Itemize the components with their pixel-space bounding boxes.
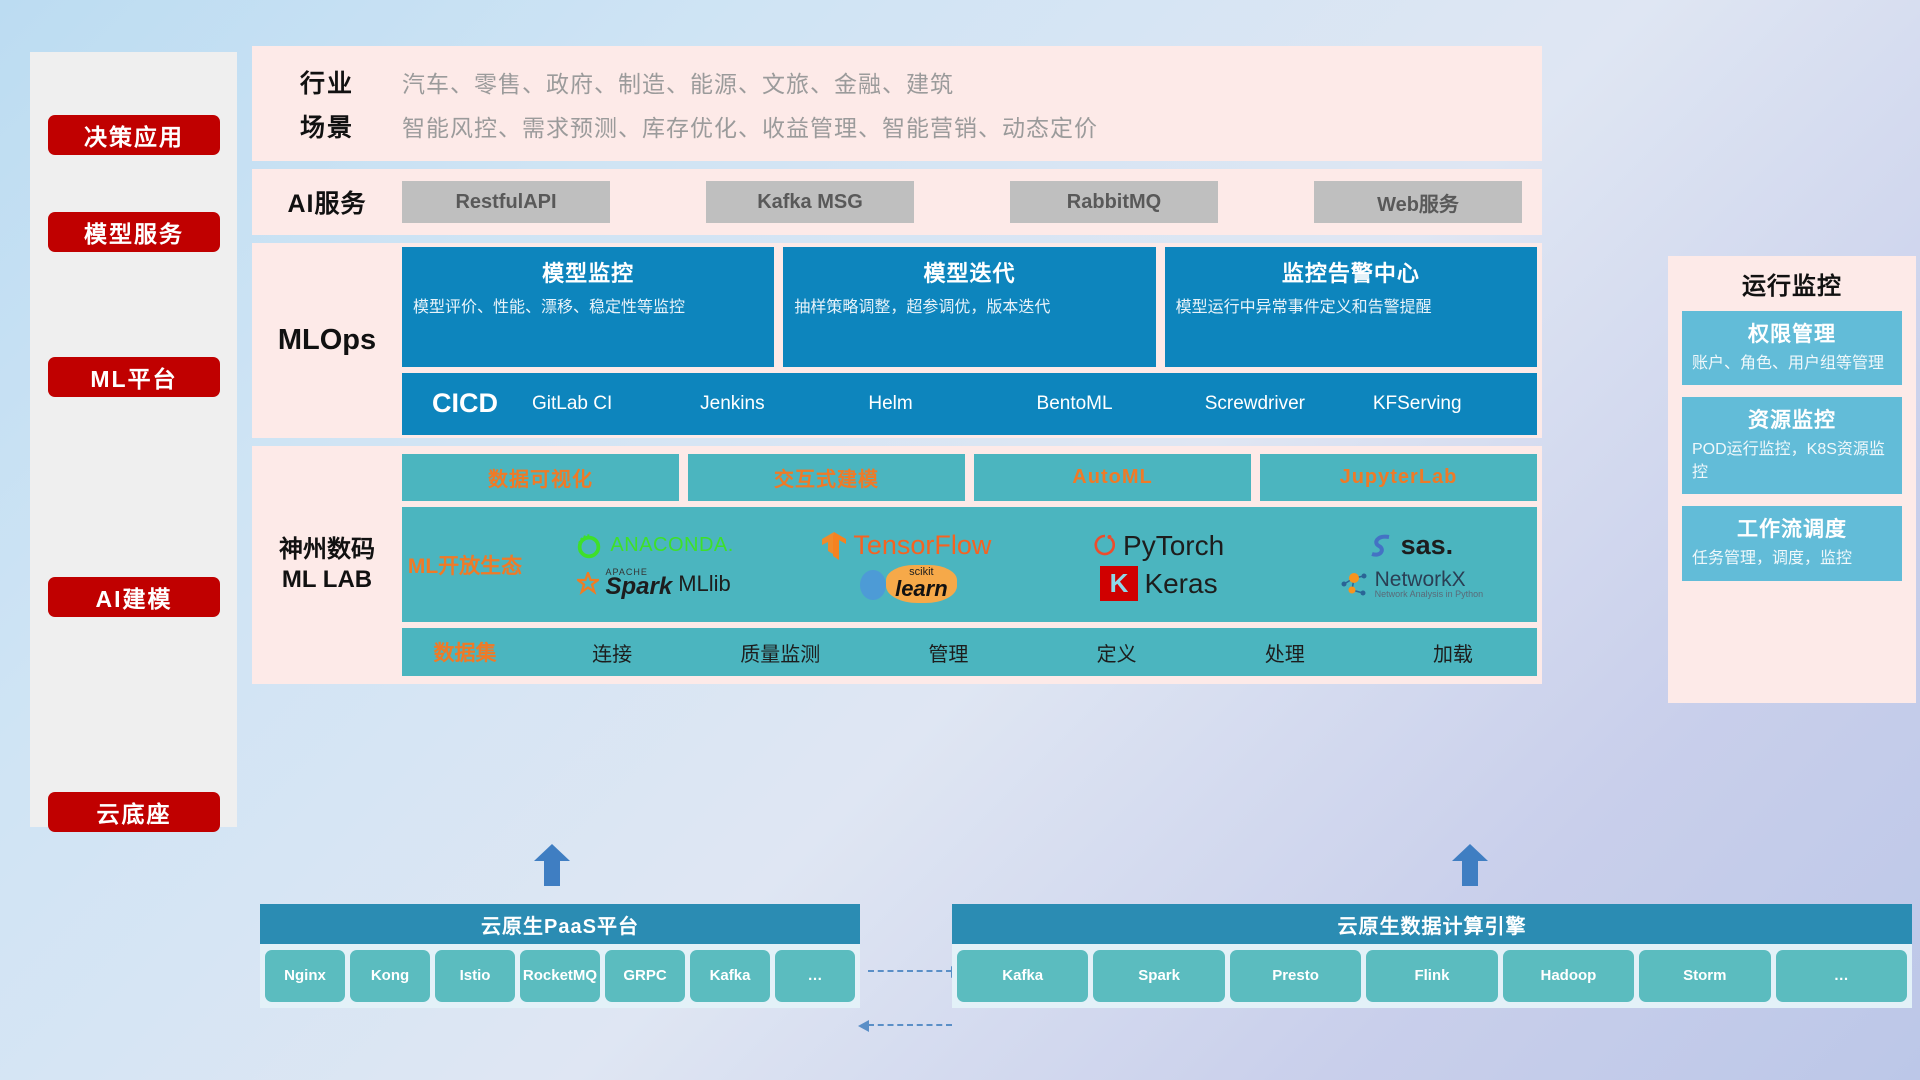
layer-chip-ai-modeling[interactable]: AI建模 <box>48 577 220 617</box>
learn-word: learn <box>895 578 948 600</box>
cloud-native-paas-group: 云原生PaaS平台 Nginx Kong Istio RocketMQ GRPC… <box>260 904 860 1008</box>
pytorch-wordmark: PyTorch <box>1123 530 1224 562</box>
layer-chip-decision-apps[interactable]: 决策应用 <box>48 115 220 155</box>
cicd-item-jenkins[interactable]: Jenkins <box>696 393 864 415</box>
tab-data-visualization[interactable]: 数据可视化 <box>402 454 679 501</box>
networkx-wordmark: NetworkX <box>1375 569 1484 590</box>
ai-service-band: AI服务 RestfulAPI Kafka MSG RabbitMQ Web服务 <box>252 169 1542 235</box>
networkx-logo: NetworkX Network Analysis in Python <box>1339 569 1484 599</box>
service-box-web-service[interactable]: Web服务 <box>1314 181 1522 223</box>
service-box-restfulapi[interactable]: RestfulAPI <box>402 181 610 223</box>
ml-ecosystem-label: ML开放生态 <box>402 550 528 580</box>
data-chip-hadoop[interactable]: Hadoop <box>1503 950 1634 1002</box>
layer-label-column: 决策应用 模型服务 ML平台 AI建模 云底座 <box>30 52 237 827</box>
up-arrow-paas-icon <box>534 844 570 886</box>
cicd-item-helm[interactable]: Helm <box>864 393 1032 415</box>
mlops-card-list: 模型监控 模型评价、性能、漂移、稳定性等监控 模型迭代 抽样策略调整，超参调优，… <box>402 247 1537 367</box>
tensorflow-wordmark: TensorFlow <box>853 530 991 561</box>
mlops-card-desc: 模型运行中异常事件定义和告警提醒 <box>1176 296 1526 319</box>
monitor-card-title: 权限管理 <box>1692 318 1892 348</box>
data-chip-kafka[interactable]: Kafka <box>957 950 1088 1002</box>
data-chip-presto[interactable]: Presto <box>1230 950 1361 1002</box>
runtime-monitor-title: 运行监控 <box>1682 266 1902 301</box>
tensorflow-icon <box>821 531 847 561</box>
anaconda-icon <box>574 531 604 561</box>
data-engine-header: 云原生数据计算引擎 <box>952 904 1912 944</box>
cloud-native-data-engine-group: 云原生数据计算引擎 Kafka Spark Presto Flink Hadoo… <box>952 904 1912 1008</box>
anaconda-wordmark: ANACONDA. <box>610 534 733 557</box>
layer-chip-model-service[interactable]: 模型服务 <box>48 212 220 252</box>
ml-lab-content: 数据可视化 交互式建模 AutoML JupyterLab ML开放生态 ANA… <box>402 454 1542 676</box>
mlops-band: MLOps 模型监控 模型评价、性能、漂移、稳定性等监控 模型迭代 抽样策略调整… <box>252 243 1542 438</box>
data-chip-more[interactable]: … <box>1776 950 1907 1002</box>
mlops-card-desc: 模型评价、性能、漂移、稳定性等监控 <box>413 296 763 319</box>
industry-label: 行业 <box>252 64 402 100</box>
tab-interactive-modeling[interactable]: 交互式建模 <box>688 454 965 501</box>
networkx-tagline: Network Analysis in Python <box>1375 590 1484 599</box>
spark-wordmark: Spark <box>605 577 672 597</box>
paas-chip-kong[interactable]: Kong <box>350 950 430 1002</box>
architecture-stack: 行业 汽车、零售、政府、制造、能源、文旅、金融、建筑 场景 智能风控、需求预测、… <box>252 46 1542 692</box>
data-engine-chip-list: Kafka Spark Presto Flink Hadoop Storm … <box>952 944 1912 1008</box>
cicd-bar: CICD GitLab CI Jenkins Helm BentoML Scre… <box>402 373 1537 435</box>
scikit-blue-blob-icon <box>856 567 890 601</box>
monitor-card-permission[interactable]: 权限管理 账户、角色、用户组等管理 <box>1682 311 1902 385</box>
ml-lab-tab-list: 数据可视化 交互式建模 AutoML JupyterLab <box>402 454 1537 501</box>
cicd-item-gitlab-ci[interactable]: GitLab CI <box>528 393 696 415</box>
paas-chip-grpc[interactable]: GRPC <box>605 950 685 1002</box>
ai-service-label: AI服务 <box>252 184 402 220</box>
paas-chip-rocketmq[interactable]: RocketMQ <box>520 950 600 1002</box>
dataset-bar: 数据集 连接 质量监测 管理 定义 处理 加载 <box>402 628 1537 676</box>
pytorch-logo: PyTorch <box>1093 530 1224 562</box>
ml-ecosystem-logo-grid: ANACONDA. TensorFlow <box>528 527 1537 603</box>
cicd-item-screwdriver[interactable]: Screwdriver <box>1201 393 1369 415</box>
dashed-connector-right-icon <box>868 970 952 972</box>
cicd-title: CICD <box>402 388 528 419</box>
paas-header: 云原生PaaS平台 <box>260 904 860 944</box>
scenario-value: 智能风控、需求预测、库存优化、收益管理、智能营销、动态定价 <box>402 109 1098 143</box>
data-chip-spark[interactable]: Spark <box>1093 950 1224 1002</box>
mlops-card-model-iteration[interactable]: 模型迭代 抽样策略调整，超参调优，版本迭代 <box>783 247 1155 367</box>
service-box-rabbitmq[interactable]: RabbitMQ <box>1010 181 1218 223</box>
industry-value: 汽车、零售、政府、制造、能源、文旅、金融、建筑 <box>402 65 954 99</box>
data-chip-storm[interactable]: Storm <box>1639 950 1770 1002</box>
monitor-card-desc: 账户、角色、用户组等管理 <box>1692 353 1892 375</box>
dataset-item-quality-monitor[interactable]: 质量监测 <box>696 638 864 667</box>
dataset-item-define[interactable]: 定义 <box>1033 638 1201 667</box>
keras-k-mark: K <box>1100 566 1139 601</box>
dashed-connector-left-icon <box>868 1024 952 1026</box>
paas-chip-list: Nginx Kong Istio RocketMQ GRPC Kafka … <box>260 944 860 1008</box>
mlops-card-title: 监控告警中心 <box>1176 256 1526 288</box>
ml-lab-band: 神州数码 ML LAB 数据可视化 交互式建模 AutoML JupyterLa… <box>252 446 1542 684</box>
tab-jupyterlab[interactable]: JupyterLab <box>1260 454 1537 501</box>
anaconda-logo: ANACONDA. <box>574 531 733 561</box>
industry-row: 行业 汽车、零售、政府、制造、能源、文旅、金融、建筑 <box>252 60 1542 104</box>
networkx-graph-icon <box>1339 570 1369 598</box>
runtime-monitor-column: 运行监控 权限管理 账户、角色、用户组等管理 资源监控 POD运行监控，K8S资… <box>1668 256 1916 703</box>
dataset-item-load[interactable]: 加载 <box>1369 638 1537 667</box>
mlops-card-alert-center[interactable]: 监控告警中心 模型运行中异常事件定义和告警提醒 <box>1165 247 1537 367</box>
ml-lab-label-line1: 神州数码 <box>252 535 402 565</box>
sas-logo: sas. <box>1369 530 1454 561</box>
paas-chip-more[interactable]: … <box>775 950 855 1002</box>
monitor-card-resource[interactable]: 资源监控 POD运行监控，K8S资源监控 <box>1682 397 1902 494</box>
layer-chip-cloud-base[interactable]: 云底座 <box>48 792 220 832</box>
ml-ecosystem-bar: ML开放生态 ANACONDA. <box>402 507 1537 622</box>
cicd-item-list: GitLab CI Jenkins Helm BentoML Screwdriv… <box>528 393 1537 415</box>
mlops-card-desc: 抽样策略调整，超参调优，版本迭代 <box>794 296 1144 319</box>
tab-automl[interactable]: AutoML <box>974 454 1251 501</box>
pytorch-icon <box>1093 532 1117 560</box>
mlops-label: MLOps <box>252 324 402 357</box>
scikit-learn-logo: scikit learn <box>856 565 957 603</box>
mlops-content: 模型监控 模型评价、性能、漂移、稳定性等监控 模型迭代 抽样策略调整，超参调优，… <box>402 247 1542 435</box>
sas-icon <box>1369 532 1395 560</box>
service-box-kafka-msg[interactable]: Kafka MSG <box>706 181 914 223</box>
decision-apps-band: 行业 汽车、零售、政府、制造、能源、文旅、金融、建筑 场景 智能风控、需求预测、… <box>252 46 1542 161</box>
mllib-wordmark: MLlib <box>678 571 731 597</box>
spark-star-icon <box>577 572 599 596</box>
paas-chip-kafka[interactable]: Kafka <box>690 950 770 1002</box>
tensorflow-logo: TensorFlow <box>821 530 991 561</box>
monitor-card-desc: POD运行监控，K8S资源监控 <box>1692 439 1892 484</box>
layer-chip-ml-platform[interactable]: ML平台 <box>48 357 220 397</box>
ml-lab-label-line2: ML LAB <box>252 565 402 595</box>
mlops-card-title: 模型迭代 <box>794 256 1144 288</box>
dataset-item-process[interactable]: 处理 <box>1201 638 1369 667</box>
monitor-card-desc: 任务管理，调度，监控 <box>1692 548 1892 570</box>
cloud-base-layer: 云原生PaaS平台 Nginx Kong Istio RocketMQ GRPC… <box>252 886 1920 1046</box>
up-arrow-data-engine-icon <box>1452 844 1488 886</box>
ai-service-list: RestfulAPI Kafka MSG RabbitMQ Web服务 <box>402 181 1522 223</box>
paas-chip-nginx[interactable]: Nginx <box>265 950 345 1002</box>
mlops-card-title: 模型监控 <box>413 256 763 288</box>
dataset-item-connect[interactable]: 连接 <box>528 638 696 667</box>
scenario-label: 场景 <box>252 108 402 144</box>
dataset-item-manage[interactable]: 管理 <box>864 638 1032 667</box>
monitor-card-title: 工作流调度 <box>1692 513 1892 543</box>
scenario-row: 场景 智能风控、需求预测、库存优化、收益管理、智能营销、动态定价 <box>252 104 1542 148</box>
ml-lab-label: 神州数码 ML LAB <box>252 535 402 595</box>
dataset-title: 数据集 <box>402 637 528 667</box>
apache-spark-logo: APACHE Spark MLlib <box>577 569 730 597</box>
monitor-card-title: 资源监控 <box>1692 404 1892 434</box>
keras-logo: K Keras <box>1100 566 1218 601</box>
data-chip-flink[interactable]: Flink <box>1366 950 1497 1002</box>
paas-chip-istio[interactable]: Istio <box>435 950 515 1002</box>
mlops-card-model-monitoring[interactable]: 模型监控 模型评价、性能、漂移、稳定性等监控 <box>402 247 774 367</box>
sas-wordmark: sas. <box>1401 530 1454 561</box>
cicd-item-bentoml[interactable]: BentoML <box>1033 393 1201 415</box>
monitor-card-workflow[interactable]: 工作流调度 任务管理，调度，监控 <box>1682 506 1902 580</box>
cicd-item-kfserving[interactable]: KFServing <box>1369 393 1537 415</box>
keras-wordmark: Keras <box>1144 568 1217 600</box>
dataset-item-list: 连接 质量监测 管理 定义 处理 加载 <box>528 638 1537 667</box>
